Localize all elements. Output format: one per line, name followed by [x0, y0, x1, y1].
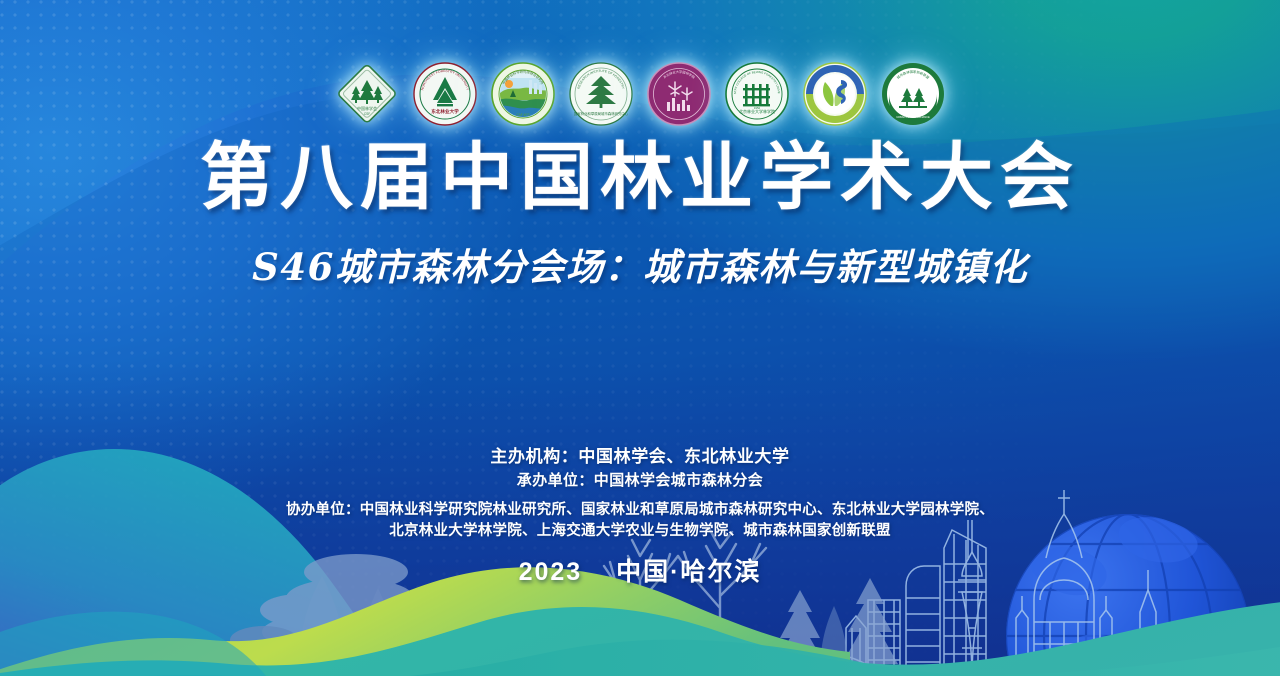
svg-text:URBAN FOREST ALLIANCE: URBAN FOREST ALLIANCE: [896, 115, 930, 119]
coorganizer-line-1: 协办单位：中国林业科学研究院林业研究所、国家林业和草原局城市森林研究中心、东北林…: [0, 500, 1280, 521]
svg-text:1952: 1952: [442, 95, 449, 99]
conference-year: 2023: [519, 558, 583, 586]
year-location-line: 2023 中国·哈尔滨: [0, 552, 1280, 588]
host-line: 承办单位：中国林学会城市森林分会: [0, 469, 1280, 493]
sjtu-agriculture-biology-logo: 上海交通大学农业与生物学院: [801, 60, 869, 128]
svg-text:1952: 1952: [754, 106, 761, 110]
coorganizer-line-2: 北京林业大学林学院、上海交通大学农业与生物学院、城市森林国家创新联盟: [0, 521, 1280, 542]
conference-location: 中国·哈尔滨: [616, 558, 761, 586]
svg-text:CAF AFS: CAF AFS: [516, 113, 529, 117]
conference-subtitle: S46城市森林分会场：城市森林与新型城镇化: [0, 249, 1280, 286]
conference-banner: 中国林学会 CSF 东北林业大学 NORTHE: [0, 0, 1280, 676]
sponsor-logo-row: 中国林学会 CSF 东北林业大学 NORTHE: [0, 60, 1280, 128]
conference-main-title: 第八届中国林业学术大会: [0, 141, 1280, 214]
urban-forest-research-center-logo: 东北林业大学园林学院: [645, 60, 713, 128]
forestry-research-institute-logo: RESEARCH INSTITUTE OF FORESTRY 国家林业和草原局城…: [567, 60, 635, 128]
beijing-forestry-university-logo: 北京林业大学林学院 1952 FORESTRY COLLEGE OF BEIJI…: [723, 60, 791, 128]
svg-text:CSF: CSF: [364, 112, 370, 116]
organizer-block: 主办机构：中国林学会、东北林业大学 承办单位：中国林学会城市森林分会 协办单位：…: [0, 444, 1280, 542]
svg-text:国家林业和草原局城市森林研究中心: 国家林业和草原局城市森林研究中心: [574, 111, 629, 116]
northeast-forestry-university-logo: 东北林业大学 NORTHEAST FORESTRY UNIVERSITY 195…: [411, 60, 479, 128]
organizer-line: 主办机构：中国林学会、东北林业大学: [0, 444, 1280, 469]
chinese-academy-of-forestry-logo: CAF AFS 中国林业科学研究院林业研究所: [489, 60, 557, 128]
banner-content: 中国林学会 CSF 东北林业大学 NORTHE: [0, 0, 1280, 676]
urban-forest-innovation-alliance-logo: 城市森林国家创新联盟 URBAN FOREST ALLIANCE: [879, 60, 947, 128]
chinese-society-of-forestry-logo: 中国林学会 CSF: [333, 60, 401, 128]
svg-text:中国林学会: 中国林学会: [357, 105, 377, 111]
svg-text:东北林业大学: 东北林业大学: [431, 108, 459, 115]
coorganizer-block: 协办单位：中国林业科学研究院林业研究所、国家林业和草原局城市森林研究中心、东北林…: [0, 500, 1280, 542]
